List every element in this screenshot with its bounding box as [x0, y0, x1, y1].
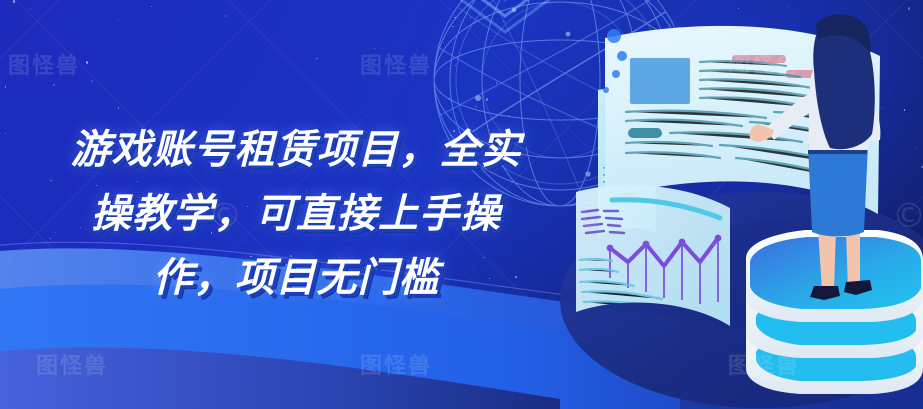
platform-top-face	[750, 237, 921, 309]
blue-pencil-skirt	[808, 144, 868, 237]
image-placeholder-block	[630, 58, 690, 104]
chevron-arrow-top	[430, 0, 580, 40]
watermark-text: 图怪兽	[8, 48, 80, 80]
illustration-svg	[560, 0, 923, 409]
illustration-group	[560, 0, 923, 409]
teal-pill-button	[628, 128, 662, 138]
page-title: 游戏账号租赁项目，全实 操教学，可直接上手操 作，项目无门槛	[6, 118, 586, 310]
promo-banner: 游戏账号租赁项目，全实 操教学，可直接上手操 作，项目无门槛 图怪兽 图怪兽 图…	[0, 0, 923, 409]
watermark-text: 图怪兽	[360, 48, 432, 80]
watermark-text: 图怪兽	[36, 348, 108, 380]
watermark-text: 图怪兽	[360, 348, 432, 380]
